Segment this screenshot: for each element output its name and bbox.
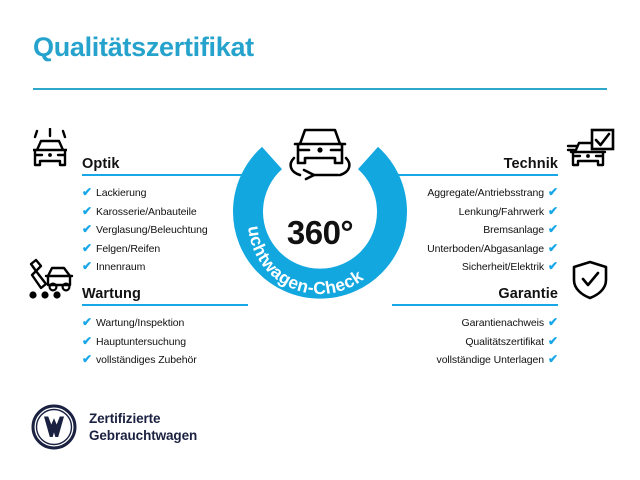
list-item: Garantienachweis✔ [416,314,558,333]
section-wartung: Wartung ✔Wartung/Inspektion ✔Hauptunters… [24,258,224,370]
list-item: Aggregate/Antriebsstrang✔ [416,184,558,203]
list-item: Unterboden/Abgasanlage✔ [416,240,558,259]
check-icon: ✔ [82,221,93,239]
list-item-label: Wartung/Inspektion [96,317,184,329]
section-list-garantie: Garantienachweis✔ Qualitätszertifikat✔ v… [416,314,616,370]
section-technik: Technik Aggregate/Antriebsstrang✔ Lenkun… [416,128,616,277]
list-item-label: Aggregate/Antriebsstrang [427,187,544,199]
check-icon: ✔ [82,184,93,202]
volkswagen-logo [31,404,77,450]
section-rule-optik [82,174,224,176]
360-check-badge: Gebrauchtwagen-Check 360° [224,118,416,310]
check-icon: ✔ [547,314,558,332]
list-item: ✔Felgen/Reifen [82,240,224,259]
check-icon: ✔ [82,333,93,351]
list-item: Lenkung/Fahrwerk✔ [416,203,558,222]
car-shine-icon [24,128,76,172]
car-checkbox-icon [564,128,616,172]
list-item: ✔Karosserie/Anbauteile [82,203,224,222]
list-item: Bremsanlage✔ [416,221,558,240]
list-item-label: Karosserie/Anbauteile [96,206,197,218]
car-rotation-icon [280,120,360,182]
badge-center-label: 360° [224,214,416,252]
section-garantie: Garantie Garantienachweis✔ Qualitätszert… [416,258,616,370]
title-divider [33,88,607,90]
section-title-garantie: Garantie [498,286,558,302]
check-icon: ✔ [547,351,558,369]
list-item-label: Unterboden/Abgasanlage [427,243,544,255]
list-item-label: Hauptuntersuchung [96,336,186,348]
check-icon: ✔ [82,203,93,221]
list-item-label: Felgen/Reifen [96,243,160,255]
list-item: ✔vollständiges Zubehör [82,351,224,370]
list-item: ✔Verglasung/Beleuchtung [82,221,224,240]
check-icon: ✔ [82,240,93,258]
check-icon: ✔ [82,314,93,332]
certificate-canvas: Qualitätszertifikat [0,0,640,480]
page-title: Qualitätszertifikat [33,32,254,63]
section-header-garantie: Garantie [416,258,616,304]
section-rule-technik [416,174,558,176]
list-item: ✔Hauptuntersuchung [82,333,224,352]
footer-line-1: Zertifizierte [89,411,160,426]
list-item: vollständige Unterlagen✔ [416,351,558,370]
list-item: ✔Wartung/Inspektion [82,314,224,333]
footer-text: Zertifizierte Gebrauchtwagen [89,410,197,444]
check-icon: ✔ [82,351,93,369]
section-header-optik: Optik [24,128,224,174]
check-icon: ✔ [547,333,558,351]
section-header-technik: Technik [416,128,616,174]
list-item-label: vollständiges Zubehör [96,354,197,366]
section-optik: Optik ✔Lackierung ✔Karosserie/Anbauteile… [24,128,224,277]
list-item: ✔Lackierung [82,184,224,203]
section-rule-garantie [416,304,558,306]
section-header-wartung: Wartung [24,258,224,304]
section-rule-wartung [82,304,224,306]
check-icon: ✔ [547,240,558,258]
section-title-technik: Technik [504,156,558,172]
footer-brand: Zertifizierte Gebrauchtwagen [31,404,197,450]
section-title-wartung: Wartung [82,286,141,302]
section-title-optik: Optik [82,156,120,172]
list-item-label: Lackierung [96,187,146,199]
section-list-wartung: ✔Wartung/Inspektion ✔Hauptuntersuchung ✔… [24,314,224,370]
list-item: Qualitätszertifikat✔ [416,333,558,352]
list-item-label: Lenkung/Fahrwerk [459,206,544,218]
list-item-label: vollständige Unterlagen [437,354,544,366]
list-item-label: Verglasung/Beleuchtung [96,224,208,236]
footer-line-2: Gebrauchtwagen [89,428,197,443]
check-icon: ✔ [547,184,558,202]
shield-check-icon [564,258,616,302]
list-item-label: Bremsanlage [483,224,544,236]
check-icon: ✔ [547,221,558,239]
wrench-car-icon [24,258,76,302]
check-icon: ✔ [547,203,558,221]
list-item-label: Garantienachweis [462,317,544,329]
list-item-label: Qualitätszertifikat [465,336,544,348]
